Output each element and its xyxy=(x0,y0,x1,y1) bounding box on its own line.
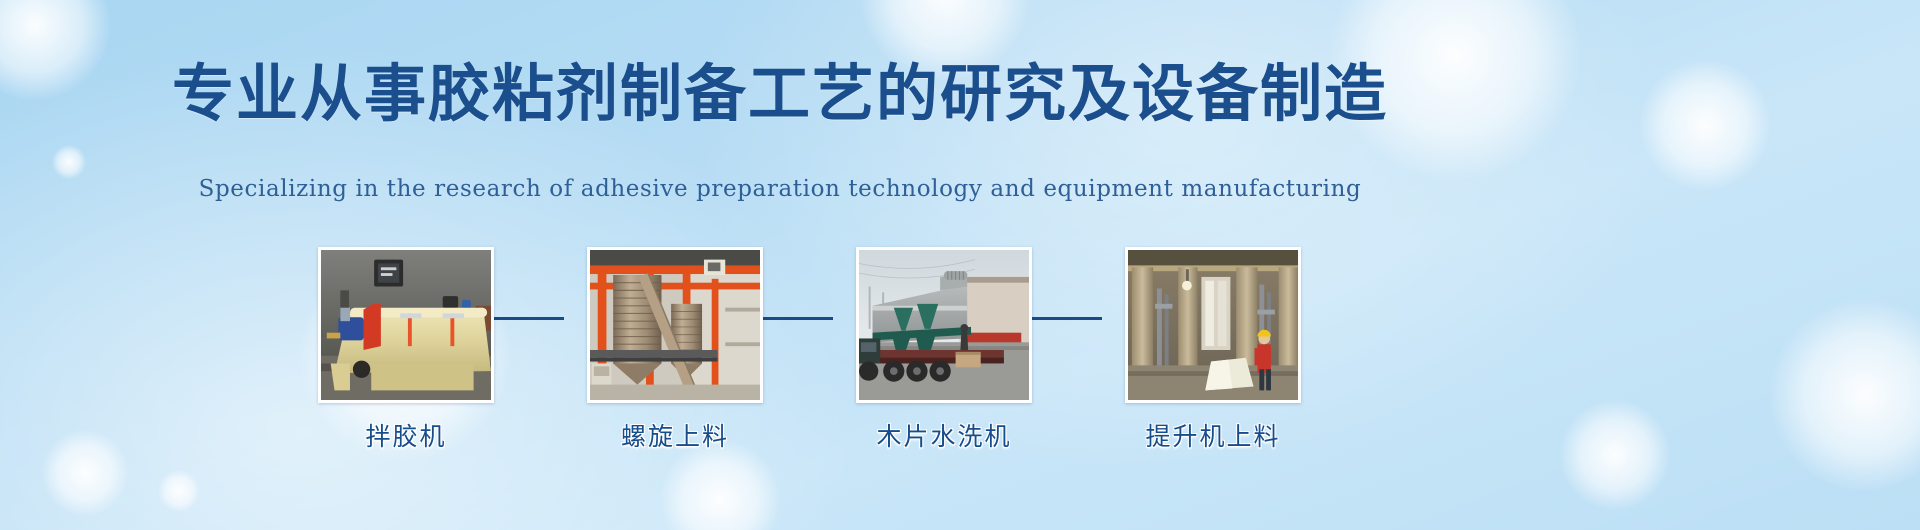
process-card-4[interactable]: 提升机上料 xyxy=(1125,247,1301,453)
hero-banner: 专业从事胶粘剂制备工艺的研究及设备制造 Specializing in the … xyxy=(0,0,1920,530)
process-card-1[interactable]: 拌胶机 xyxy=(318,247,494,453)
glue-mixer-illustration xyxy=(321,250,491,400)
bucket-elevator-photo[interactable] xyxy=(1125,247,1301,403)
banner-content: 专业从事胶粘剂制备工艺的研究及设备制造 Specializing in the … xyxy=(0,0,1920,530)
process-card-3-caption: 木片水洗机 xyxy=(856,417,1032,453)
process-card-2[interactable]: 螺旋上料 xyxy=(587,247,763,453)
screw-conveyor-illustration xyxy=(590,250,760,400)
wood-chip-washer-photo[interactable] xyxy=(856,247,1032,403)
process-card-2-caption: 螺旋上料 xyxy=(587,417,763,453)
process-card-1-caption: 拌胶机 xyxy=(318,417,494,453)
process-card-3[interactable]: 木片水洗机 xyxy=(856,247,1032,453)
process-photo-strip: 拌胶机 xyxy=(0,247,1560,462)
bucket-elevator-illustration xyxy=(1128,250,1298,400)
connector-1-2 xyxy=(494,317,564,320)
page-title: 专业从事胶粘剂制备工艺的研究及设备制造 xyxy=(0,55,1560,133)
connector-2-3 xyxy=(763,317,833,320)
process-card-4-caption: 提升机上料 xyxy=(1125,417,1301,453)
screw-conveyor-photo[interactable] xyxy=(587,247,763,403)
page-subtitle: Specializing in the research of adhesive… xyxy=(0,176,1560,202)
connector-3-4 xyxy=(1032,317,1102,320)
glue-mixer-photo[interactable] xyxy=(318,247,494,403)
wood-chip-washer-illustration xyxy=(859,250,1029,400)
